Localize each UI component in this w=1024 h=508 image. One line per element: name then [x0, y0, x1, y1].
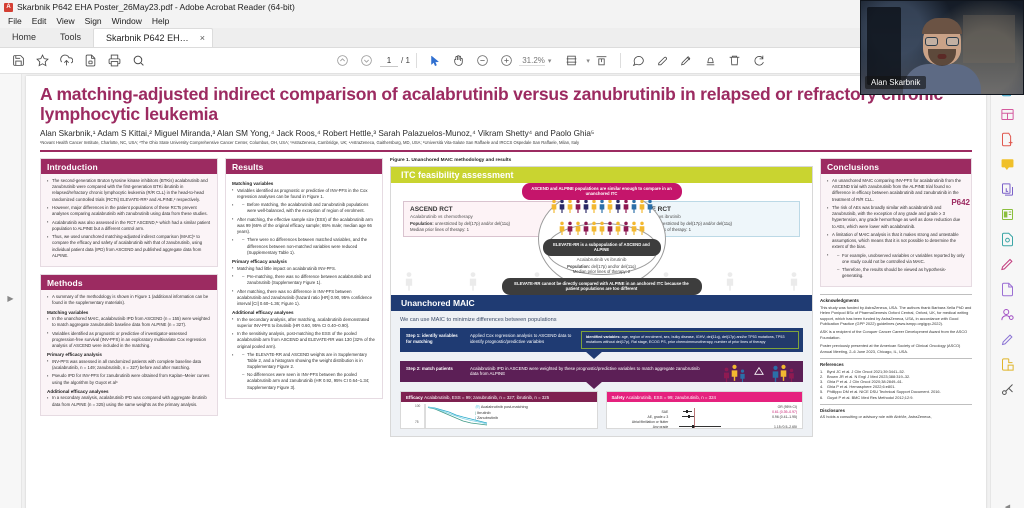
elevate-population: Population: del(17p) and/or del(11q) Med… — [540, 264, 664, 275]
acrobat-reader-window: A Skarbnik P642 EHA Poster_26May23.pdf -… — [0, 0, 1024, 508]
author-list: Alan Skarbnik,¹ Adam S Kittai,² Miguel M… — [40, 129, 972, 138]
more-tools-icon[interactable] — [999, 380, 1017, 398]
acknowledgments-text: Poster previously presented at the Ameri… — [820, 343, 972, 354]
maic-diagram: We can use MAIC to minimize differences … — [391, 311, 812, 436]
maic-results-row: Efficacy Acalabrutinib, ESS = 99; zanubr… — [400, 391, 803, 429]
toolbar-divider-2 — [620, 53, 621, 68]
methods-body: A summary of the methodology is shown in… — [41, 290, 217, 415]
column-left: Introduction The second-generation Bruto… — [40, 158, 218, 498]
maic-step-2: Step 2: match patients Acalabrutinib IPD… — [400, 361, 803, 383]
list-item-sub: Before matching, the acalabrutinib and z… — [232, 202, 376, 214]
table-row: Any grade 1.15 (0.5–2.65) — [611, 424, 799, 428]
next-page-icon[interactable] — [354, 49, 378, 73]
elevate-population-value: del(17p) and/or del(11q) — [591, 264, 636, 269]
similar-populations-pill: ASCEND and ALPINE populations are simila… — [522, 183, 682, 200]
maic-lead-text: We can use MAIC to minimize differences … — [400, 317, 803, 323]
list-item-sub: For example, unobserved variables or var… — [827, 253, 965, 279]
left-navigation-rail[interactable]: ▶ — [0, 74, 22, 508]
window-title: Skarbnik P642 EHA Poster_26May23.pdf - A… — [17, 2, 295, 12]
create-pdf-icon[interactable] — [999, 130, 1017, 148]
list-item: The second-generation Bruton tyrosine ki… — [47, 178, 211, 203]
step2-chevron-icon — [585, 381, 603, 389]
elevate-population-label: Population: — [567, 264, 590, 269]
star-icon[interactable] — [30, 49, 54, 73]
elevate-comparison: Acalabrutinib vs ibrutinib — [540, 257, 664, 262]
webcam-person-mouth — [938, 54, 947, 59]
safety-header-text: Acalabrutinib, ESS = 99; zanubrutinib, n… — [626, 395, 716, 400]
acknowledgments-text: ASK is a recipient of the Conquer Cancer… — [820, 329, 972, 340]
column-figure: Figure 1. Unanchored MAIC methodology an… — [390, 158, 813, 498]
methods-group-title: Primary efficacy analysis — [47, 352, 211, 357]
webcam-door — [867, 7, 901, 85]
affiliations: ¹Novant Health Cancer Institute, Charlot… — [40, 140, 972, 146]
methods-card: Methods A summary of the methodology is … — [40, 274, 218, 416]
results-heading: Results — [226, 159, 382, 174]
identified-variables-label: Identified variables: — [586, 335, 621, 339]
save-icon[interactable] — [6, 49, 30, 73]
efficacy-panel: Efficacy Acalabrutinib, ESS = 99; zanubr… — [400, 391, 598, 429]
zoom-level-value[interactable]: 31.2% — [519, 56, 545, 66]
share-icon[interactable] — [999, 280, 1017, 298]
alpine-population-value: unrestricted by del(17p) and/or del(11q) — [657, 221, 732, 226]
step2-label: Step 2: match patients — [400, 361, 464, 383]
menu-window[interactable]: Window — [107, 16, 147, 26]
weighted-people-left — [715, 361, 754, 383]
document-body: ▶ A matching-adjusted indirect compariso… — [0, 74, 1024, 508]
upload-cloud-icon[interactable] — [54, 49, 78, 73]
tab-home[interactable]: Home — [0, 27, 48, 47]
safety-forest-plot: OR (95% CI) SAE 0.61 (0.39–0.97) — [607, 402, 803, 428]
page-number-input[interactable]: 1 — [380, 54, 398, 67]
list-item: In a secondary analysis, acalabrutinib I… — [47, 395, 211, 407]
edit-pdf-icon[interactable] — [999, 330, 1017, 348]
elevate-prior-lines: Median prior lines of therapy: 2 — [573, 269, 631, 274]
webcam-overlay[interactable]: Alan Skarbnik — [860, 0, 1024, 95]
select-cursor-icon[interactable] — [423, 49, 447, 73]
elevate-subpopulation-pill: ELEVATE-RR is a subpopulation of ASCEND … — [543, 239, 661, 256]
list-item: There were no differences between matche… — [242, 237, 376, 256]
ascend-prior-lines: Median prior lines of therapy: 1 — [410, 227, 469, 232]
menu-file[interactable]: File — [3, 16, 27, 26]
tab-tools[interactable]: Tools — [48, 27, 93, 47]
document-scroll-area[interactable]: A matching-adjusted indirect comparison … — [22, 74, 990, 508]
identified-variables-box: Identified variables: age, region of enr… — [581, 331, 799, 349]
efficacy-header: Efficacy Acalabrutinib, ESS = 99; zanubr… — [401, 392, 597, 402]
introduction-heading: Introduction — [41, 159, 217, 174]
request-signature-icon[interactable] — [999, 305, 1017, 323]
list-item-sub: The ELEVATE-RR and ASCEND weights are in… — [232, 352, 376, 391]
list-item: The ELEVATE-RR and ASCEND weights are in… — [242, 352, 376, 371]
elevate-not-comparable-pill: ELEVATE-RR cannot be directly compared w… — [502, 278, 702, 295]
chevron-down-icon[interactable]: ▾ — [548, 57, 552, 65]
pdf-page: A matching-adjusted indirect comparison … — [26, 76, 986, 508]
acknowledgments-heading: Acknowledgments — [820, 298, 972, 303]
forest-row-or: 1.15 (0.5–2.65) — [751, 424, 798, 428]
km-legend: 般;| Acalabrutinib post-matching | Ibruti… — [475, 405, 528, 421]
maic-band-heading: Unanchored MAIC — [391, 295, 812, 311]
references-section: References Byrd JC et al. J Clin Oncol 2… — [820, 358, 972, 400]
poster-columns: Introduction The second-generation Bruto… — [40, 158, 972, 498]
right-tools-rail: ◀ — [990, 74, 1024, 508]
results-card: Results Matching variables Variables ide… — [225, 158, 383, 399]
column-results: Results Matching variables Variables ide… — [225, 158, 383, 498]
conclusions-heading: Conclusions — [821, 159, 971, 174]
list-item-sub: There were no differences between matche… — [232, 237, 376, 256]
toolbar-divider — [416, 53, 417, 68]
rotate-icon[interactable] — [747, 49, 771, 73]
list-item: After matching, the effective sample siz… — [232, 217, 376, 236]
delete-icon[interactable] — [723, 49, 747, 73]
ascend-population-label: Population: — [410, 221, 434, 226]
acrobat-app-icon: A — [4, 3, 13, 12]
list-item: Matching had little impact on acalabruti… — [232, 266, 376, 272]
references-heading: References — [820, 362, 972, 367]
page-navigation: 1 / 1 — [380, 54, 410, 67]
list-item: Pre-matching, there was no difference be… — [242, 274, 376, 286]
fit-page-icon[interactable] — [559, 49, 583, 73]
itc-band-heading: ITC feasibility assessment — [391, 167, 812, 183]
maic-step-1: Step 1: identify variables for matching … — [400, 328, 803, 352]
list-item: However, major differences in the patien… — [47, 205, 211, 217]
people-row-bottom — [559, 221, 645, 235]
disclosures-section: Disclosures AS holds a consulting or adv… — [820, 404, 972, 420]
previous-page-icon[interactable] — [330, 49, 354, 73]
webcam-name-label: Alan Skarbnik — [865, 76, 926, 89]
comment-icon[interactable] — [627, 49, 651, 73]
list-item: An unanchored MAIC comparing INV-PFS for… — [827, 178, 965, 203]
organize-pages-icon[interactable] — [999, 105, 1017, 123]
list-item: In the sensitivity analysis, post-matchi… — [232, 331, 376, 350]
menu-sign[interactable]: Sign — [80, 16, 107, 26]
list-item: The risk of AEs was broadly similar with… — [827, 205, 965, 230]
list-item: A summary of the methodology is shown in… — [47, 294, 211, 306]
safety-panel: Safety Acalabrutinib, ESS = 99; zanubrut… — [606, 391, 804, 429]
list-item: Variables identified as prognostic or pr… — [232, 188, 376, 200]
menu-edit[interactable]: Edit — [27, 16, 52, 26]
list-item: Guyot P et al. BMC Med Res Methodol 2012… — [820, 395, 972, 400]
collapse-rail-glyph: ◀ — [1005, 503, 1010, 508]
km-curve-chart: 100 75 — [401, 402, 597, 428]
comment-tool-icon[interactable] — [999, 155, 1017, 173]
km-ytick-75: 75 — [415, 420, 419, 424]
list-item: INV-PFS was assessed in all randomized p… — [47, 359, 211, 371]
introduction-card: Introduction The second-generation Bruto… — [40, 158, 218, 267]
hand-icon[interactable] — [447, 49, 471, 73]
tab-document-label: Skarbnik P642 EHA... — [106, 29, 193, 48]
efficacy-header-text: Acalabrutinib, ESS = 99; zanubrutinib, n… — [424, 395, 549, 400]
fill-sign-icon[interactable] — [999, 255, 1017, 273]
efficacy-header-bold: Efficacy — [406, 395, 423, 400]
draw-icon[interactable] — [675, 49, 699, 73]
results-group-title: Primary efficacy analysis — [232, 259, 376, 264]
list-item: After matching, there was no difference … — [232, 289, 376, 308]
results-group-title: Additional efficacy analyses — [232, 310, 376, 315]
figure-caption: Figure 1. Unanchored MAIC methodology an… — [390, 158, 813, 163]
methods-group-title: Additional efficacy analyses — [47, 389, 211, 394]
compress-pdf-icon[interactable] — [999, 205, 1017, 223]
safety-header-bold: Safety — [612, 395, 625, 400]
disclosures-text: AS holds a consulting or advisory role w… — [820, 414, 972, 419]
webcam-window — [963, 15, 1015, 63]
zoom-in-icon[interactable] — [495, 49, 519, 73]
page-total-label: / 1 — [401, 56, 410, 65]
conclusions-body: An unanchored MAIC comparing INV-PFS for… — [821, 174, 971, 286]
list-item: No differences were seen in INV-PFS betw… — [242, 372, 376, 391]
introduction-body: The second-generation Bruton tyrosine ki… — [41, 174, 217, 266]
step1-chevron-icon — [585, 351, 603, 359]
fit-width-icon[interactable] — [590, 49, 614, 73]
weighted-people-right — [764, 361, 803, 383]
list-item: For example, unobserved variables or var… — [837, 253, 965, 265]
tab-document[interactable]: Skarbnik P642 EHA... × — [93, 28, 213, 47]
scan-ocr-icon[interactable] — [999, 355, 1017, 373]
list-item-sub: Pre-matching, there was no difference be… — [232, 274, 376, 286]
expand-panel-icon[interactable]: ▶ — [7, 294, 13, 303]
list-item: A limitation of MAIC analysis is that it… — [827, 232, 965, 251]
methods-heading: Methods — [41, 275, 217, 290]
legend-label: Ibrutinib — [477, 411, 491, 415]
combine-files-icon[interactable] — [999, 180, 1017, 198]
protect-file-icon[interactable] — [78, 49, 102, 73]
step1-label: Step 1: identify variables for matching — [400, 328, 464, 352]
protect-pdf-icon[interactable] — [999, 230, 1017, 248]
itc-diagram: ASCEND RCT Acalabrutinib vs chemotherapy… — [391, 183, 812, 295]
forest-table: OR (95% CI) SAE 0.61 (0.39–0.97) — [611, 404, 799, 428]
conclusions-card: Conclusions An unanchored MAIC comparing… — [820, 158, 972, 287]
list-item: Thus, we used unanchored matching-adjust… — [47, 234, 211, 259]
step2-text: Acalabrutinib IPD in ASCEND were weighte… — [464, 361, 715, 383]
km-ytick-100: 100 — [415, 404, 420, 408]
legend-label: Acalabrutinib post-matching — [481, 405, 528, 409]
results-body: Matching variables Variables identified … — [226, 174, 382, 398]
people-row-top — [551, 199, 653, 213]
legend-item: | Zanubrutinib — [475, 416, 528, 421]
balance-icon — [754, 361, 764, 383]
acknowledgments-section: Acknowledgments This study was funded by… — [820, 294, 972, 354]
list-item: In the secondary analysis, after matchin… — [232, 317, 376, 329]
figure-1: ITC feasibility assessment — [390, 166, 813, 437]
highlight-icon[interactable] — [651, 49, 675, 73]
glasses-icon — [925, 37, 959, 46]
list-item: In the unanchored MAIC, acalabrutinib IP… — [47, 316, 211, 328]
stamp-icon[interactable] — [699, 49, 723, 73]
list-item: Pseudo IPD for INV-PFS for zanubrutinib … — [47, 373, 211, 385]
safety-header: Safety Acalabrutinib, ESS = 99; zanubrut… — [607, 392, 803, 402]
disclosures-heading: Disclosures — [820, 408, 972, 413]
print-icon[interactable] — [102, 49, 126, 73]
collapse-rail-icon[interactable]: ◀ — [999, 498, 1017, 508]
list-item: Before matching, the acalabrutinib and z… — [242, 202, 376, 214]
step1-text: Applied Cox regression analysis to ASCEN… — [464, 328, 581, 352]
column-conclusions: Conclusions An unanchored MAIC comparing… — [820, 158, 972, 498]
forest-row-label: Any grade — [611, 424, 670, 428]
methods-group-title: Matching variables — [47, 310, 211, 315]
menu-view[interactable]: View — [51, 16, 79, 26]
menu-help[interactable]: Help — [147, 16, 174, 26]
list-item: Therefore, the results should be viewed … — [837, 267, 965, 279]
list-item: Acalabrutinib was also assessed in the R… — [47, 220, 211, 232]
acknowledgments-text: This study was funded by AstraZeneca, US… — [820, 305, 972, 327]
search-icon[interactable] — [126, 49, 150, 73]
results-group-title: Matching variables — [232, 181, 376, 186]
page-title: A matching-adjusted indirect comparison … — [40, 84, 972, 124]
ascend-population-value: unrestricted by del(17p) and/or del(11q) — [435, 221, 510, 226]
title-divider — [40, 150, 972, 152]
zoom-out-icon[interactable] — [471, 49, 495, 73]
legend-label: Zanubrutinib — [477, 416, 498, 420]
list-item: Variables identified as prognostic or pr… — [47, 331, 211, 350]
close-icon[interactable]: × — [200, 29, 205, 48]
